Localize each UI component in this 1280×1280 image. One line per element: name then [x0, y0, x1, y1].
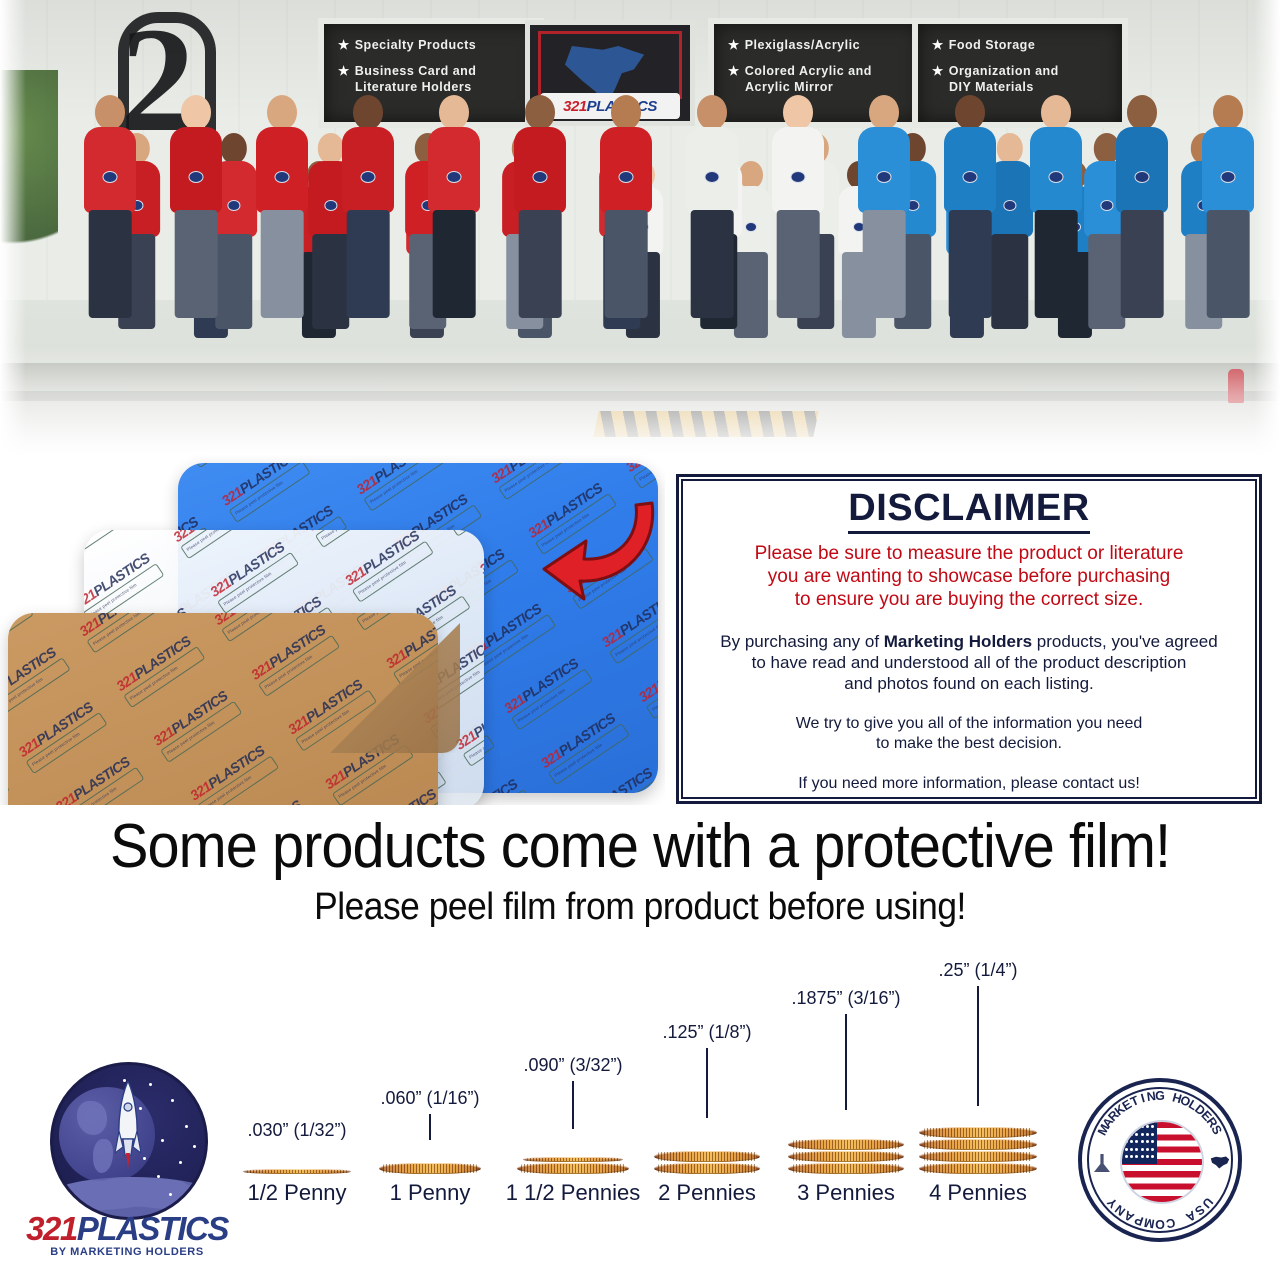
- watermark-note: Please peel protective film: [217, 552, 299, 614]
- shirt-logo-badge: [791, 171, 806, 183]
- watermark-note: Please peel protective film: [123, 646, 205, 708]
- star-icon: ★: [932, 38, 944, 52]
- star-dot: [179, 1161, 182, 1164]
- watermark-note: Please peel protective film: [8, 778, 10, 805]
- member-legs: [1121, 210, 1164, 318]
- disclaimer-title: DISCLAIMER: [679, 487, 1259, 530]
- thickness-label: .030” (1/32”): [247, 1120, 346, 1141]
- member-head: [221, 133, 247, 163]
- penny-stack: [788, 1138, 904, 1174]
- watermark-text: 321PLASTICS: [342, 530, 439, 588]
- member-legs: [1035, 210, 1078, 318]
- shirt-logo-badge: [361, 171, 376, 183]
- headline-block: Some products come with a protective fil…: [0, 812, 1280, 930]
- team-member: [1116, 95, 1168, 315]
- penny-coin: [788, 1151, 904, 1162]
- map-border: [538, 31, 682, 99]
- watermark-tile: 321PLASTICSPlease peel protective film: [359, 774, 438, 805]
- member-head: [997, 133, 1023, 163]
- disclaimer-contact: If you need more information, please con…: [679, 774, 1259, 794]
- watermark-tile: 321PLASTICSPlease peel protective film: [538, 698, 658, 793]
- watermark-tile: 321PLASTICSPlease peel protective film: [212, 613, 335, 665]
- watermark-tile: 321PLASTICSPlease peel protective film: [84, 530, 159, 594]
- watermark-text: 321PLASTICS: [501, 644, 598, 716]
- team-member: [256, 95, 308, 315]
- leader-line: [429, 1114, 431, 1140]
- member-shirt: [170, 127, 222, 213]
- disclaimer-box: DISCLAIMER Please be sure to measure the…: [676, 474, 1262, 804]
- leader-line: [845, 1014, 847, 1110]
- watermark-note: Please peel protective film: [633, 463, 658, 489]
- penny-stack: [919, 1126, 1037, 1174]
- penny-coin: [919, 1151, 1037, 1162]
- watermark-text: 321PLASTICS: [77, 613, 174, 639]
- member-legs: [691, 210, 734, 318]
- watermark-tile: 321PLASTICSPlease peel protective film: [8, 613, 65, 688]
- watermark-text: 321PLASTICS: [224, 785, 321, 805]
- watermark-note: Please peel protective film: [332, 744, 414, 805]
- watermark-text: 321PLASTICS: [489, 463, 586, 485]
- shirt-logo-badge: [963, 171, 978, 183]
- shirt-logo-badge: [1003, 200, 1016, 211]
- film-watermark: 321PLASTICSPlease peel protective film32…: [8, 613, 438, 805]
- watermark-note: Please peel protective film: [160, 701, 242, 763]
- watermark-tile: 321PLASTICSPlease peel protective film: [346, 613, 438, 654]
- star-icon: ★: [728, 64, 740, 78]
- watermark-note: Please peel protective film: [229, 463, 311, 523]
- watermark-text: 321PLASTICS: [8, 753, 15, 805]
- watermark-note: Please peel protective film: [86, 613, 168, 653]
- watermark-note: Please peel protective film: [474, 614, 556, 676]
- watermark-tile: 321PLASTICSPlease peel protective film: [8, 753, 41, 805]
- watermark-note: Please peel protective film: [221, 613, 303, 642]
- member-shirt: [944, 127, 996, 213]
- logo-circle: [50, 1062, 208, 1220]
- protective-film-illustration: 321PLASTICSPlease peel protective film32…: [0, 455, 665, 805]
- watermark-tile: 321PLASTICSPlease peel protective film: [171, 530, 294, 582]
- team-member: [686, 95, 738, 315]
- rocket-icon: [115, 1081, 141, 1173]
- watermark-note: Please peel protective film: [25, 712, 107, 774]
- member-shirt: [600, 127, 652, 213]
- star-icon: ★: [338, 64, 350, 78]
- member-legs: [261, 210, 304, 318]
- watermark-note: Please peel protective film: [315, 530, 397, 548]
- shirt-logo-badge: [189, 171, 204, 183]
- badge-char: O: [1155, 1217, 1165, 1231]
- watermark-text: 321PLASTICS: [305, 530, 402, 533]
- watermark-tile: 321PLASTICSPlease peel protective film: [188, 731, 311, 805]
- team-member: [1030, 95, 1082, 315]
- sign-line: ★Organization and: [932, 64, 1122, 79]
- team-member: [1202, 95, 1254, 315]
- member-legs: [519, 210, 562, 318]
- watermark-text: 321PLASTICS: [636, 632, 658, 704]
- member-shirt: [342, 127, 394, 213]
- watermark-text: 321PLASTICS: [188, 731, 285, 803]
- shirt-logo-badge: [1100, 200, 1113, 211]
- team-member: [944, 95, 996, 315]
- member-legs: [605, 210, 648, 318]
- logo-wordmark: 321PLASTICS: [22, 1212, 232, 1246]
- watermark-text: 321PLASTICS: [151, 676, 248, 748]
- sign-line: Literature Holders: [338, 80, 538, 95]
- star-dot: [193, 1145, 196, 1148]
- watermark-text: 321PLASTICS: [359, 774, 438, 805]
- shirt-logo-badge: [1049, 171, 1064, 183]
- team-member: [170, 95, 222, 315]
- watermark-note: Please peel protective film: [8, 657, 71, 719]
- member-shirt: [686, 127, 738, 213]
- badge-char: C: [1165, 1215, 1176, 1230]
- team-member: [858, 95, 910, 315]
- continent-shape: [93, 1139, 113, 1173]
- penny-count-label: 1 Penny: [390, 1180, 471, 1206]
- shirt-logo-badge: [877, 171, 892, 183]
- watermark-text: 321PLASTICS: [16, 687, 113, 759]
- watermark-text: 321PLASTICS: [219, 463, 316, 508]
- thickness-label: .25” (1/4”): [938, 960, 1017, 981]
- disclaimer-info: We try to give you all of the informatio…: [679, 714, 1259, 754]
- shirt-logo-badge: [533, 171, 548, 183]
- watermark-text: 321PLASTICS: [114, 621, 211, 693]
- watermark-text: 321PLASTICS: [354, 463, 451, 497]
- watermark-note: Please peel protective film: [352, 541, 434, 603]
- penny-count-label: 1/2 Penny: [247, 1180, 346, 1206]
- member-head: [525, 95, 555, 130]
- page-subtitle: Please peel film from product before usi…: [45, 884, 1235, 930]
- watermark-tile: 321PLASTICSPlease peel protective film: [16, 687, 139, 797]
- star-dot: [149, 1083, 152, 1086]
- member-legs: [863, 210, 906, 318]
- penny-stack: [517, 1156, 629, 1174]
- member-head: [353, 95, 383, 130]
- team-member: [772, 95, 824, 315]
- disclaimer-agreement-line1: By purchasing any of Marketing Holders p…: [679, 631, 1259, 652]
- watermark-note: Please peel protective film: [511, 668, 593, 730]
- star-dot: [183, 1083, 186, 1086]
- star-dot: [139, 1107, 142, 1110]
- watermark-text: 321PLASTICS: [248, 613, 345, 682]
- member-legs: [1207, 210, 1250, 318]
- member-shirt: [1116, 127, 1168, 213]
- shirt-logo-badge: [227, 200, 240, 211]
- penny-coin: [919, 1127, 1037, 1138]
- member-shirt: [1202, 127, 1254, 213]
- watermark-note: Please peel protective film: [363, 463, 445, 512]
- thickness-label: .125” (1/8”): [662, 1022, 751, 1043]
- watermark-note: Please peel protective film: [62, 767, 144, 805]
- member-legs: [175, 210, 218, 318]
- sign-line: ★Specialty Products: [338, 38, 538, 53]
- logo-tagline: BY MARKETING HOLDERS: [22, 1246, 232, 1258]
- photo-bottom-fade: [0, 345, 1280, 455]
- shirt-logo-badge: [705, 171, 720, 183]
- sign-line: Acrylic Mirror: [728, 80, 920, 95]
- watermark-tile: 321PLASTICSPlease peel protective film: [114, 621, 237, 731]
- sign-line: ★Business Card and: [338, 64, 538, 79]
- member-shirt: [858, 127, 910, 213]
- star-dot: [171, 1099, 174, 1102]
- watermark-tile: 321PLASTICSPlease peel protective film: [452, 463, 575, 469]
- leader-line: [977, 986, 979, 1106]
- shirt-logo-badge: [1221, 171, 1236, 183]
- shirt-logo-badge: [275, 171, 290, 183]
- star-icon: ★: [728, 38, 740, 52]
- photo-background: 2 ★Specialty Products ★Business Card and…: [0, 0, 1280, 455]
- watermark-text: 321PLASTICS: [90, 797, 187, 805]
- member-shirt: [772, 127, 824, 213]
- watermark-tile: 321PLASTICSPlease peel protective film: [342, 530, 465, 626]
- logo-marketing-holders: MARKETING HOLDERS USA COMPANY: [1078, 1078, 1242, 1242]
- watermark-tile: 321PLASTICSPlease peel protective film: [354, 463, 477, 535]
- shirt-logo-badge: [619, 171, 634, 183]
- penny-count-label: 3 Pennies: [797, 1180, 895, 1206]
- watermark-text: 321PLASTICS: [171, 530, 268, 544]
- watermark-text: 321PLASTICS: [208, 530, 305, 599]
- member-head: [869, 95, 899, 130]
- member-head: [739, 161, 763, 189]
- star-dot: [157, 1175, 160, 1178]
- penny-coin: [654, 1151, 760, 1162]
- team-photo: 2 ★Specialty Products ★Business Card and…: [0, 0, 1280, 455]
- watermark-tile: 321PLASTICSPlease peel protective film: [317, 463, 440, 480]
- member-shirt: [428, 127, 480, 213]
- watermark-tile: 321PLASTICSPlease peel protective film: [77, 613, 200, 677]
- penny-coin: [379, 1163, 481, 1174]
- watermark-tile: 321PLASTICSPlease peel protective film: [501, 644, 624, 754]
- penny-coin: [654, 1163, 760, 1174]
- leader-line: [706, 1048, 708, 1118]
- penny-coin: [517, 1163, 629, 1174]
- watermark-note: Please peel protective film: [8, 613, 34, 665]
- member-legs: [89, 210, 132, 318]
- star-dot: [143, 1157, 146, 1160]
- thickness-label: .060” (1/16”): [380, 1088, 479, 1109]
- kraft-masked-sheet: 321PLASTICSPlease peel protective film32…: [8, 613, 438, 805]
- photo-right-fade: [1254, 0, 1280, 455]
- watermark-tile: 321PLASTICSPlease peel protective film: [305, 530, 428, 571]
- penny-stack: [379, 1162, 481, 1174]
- shirt-logo-badge: [1135, 171, 1150, 183]
- watermark-text: 321PLASTICS: [178, 463, 182, 519]
- member-head: [1127, 95, 1157, 130]
- watermark-tile: 321PLASTICSPlease peel protective film: [636, 632, 658, 742]
- watermark-note: Please peel protective film: [462, 705, 484, 767]
- member-legs: [433, 210, 476, 318]
- watermark-tile: 321PLASTICSPlease peel protective film: [248, 613, 371, 720]
- badge-char: M: [1143, 1215, 1156, 1231]
- watermark-note: Please peel protective film: [369, 799, 438, 805]
- watermark-text: 321PLASTICS: [623, 463, 658, 474]
- watermark-text: 321PLASTICS: [8, 613, 39, 650]
- photo-left-fade: [0, 0, 26, 455]
- sign-line: ★Plexiglass/Acrylic: [728, 38, 920, 53]
- penny-coin: [919, 1139, 1037, 1150]
- team-member: [600, 95, 652, 315]
- member-head: [267, 95, 297, 130]
- leader-line: [572, 1081, 574, 1129]
- watermark-tile: 321PLASTICSPlease peel protective film: [151, 676, 274, 786]
- member-head: [181, 95, 211, 130]
- watermark-tile: 321PLASTICSPlease peel protective film: [40, 613, 163, 622]
- thickness-label: .1875” (3/16”): [791, 988, 900, 1009]
- penny-stack: [654, 1150, 760, 1174]
- member-head: [1213, 95, 1243, 130]
- team-member: [84, 95, 136, 315]
- watermark-text: 321PLASTICS: [53, 742, 150, 805]
- sign-line: ★Food Storage: [932, 38, 1122, 53]
- penny-count-label: 2 Pennies: [658, 1180, 756, 1206]
- thickness-label: .090” (3/32”): [523, 1055, 622, 1076]
- watermark-note: Please peel protective film: [180, 530, 262, 559]
- star-dot: [161, 1139, 164, 1142]
- penny-coin: [788, 1139, 904, 1150]
- member-legs: [949, 210, 992, 318]
- shirt-logo-badge: [745, 222, 757, 232]
- team-member: [342, 95, 394, 315]
- sign-line: ★Colored Acrylic and: [728, 64, 920, 79]
- watermark-text: 321PLASTICS: [8, 633, 76, 705]
- penny-count-label: 4 Pennies: [929, 1180, 1027, 1206]
- star-icon: ★: [338, 38, 350, 52]
- team-member: [428, 95, 480, 315]
- member-head: [611, 95, 641, 130]
- penny-coin: [243, 1169, 351, 1174]
- star-dot: [185, 1125, 188, 1128]
- team-member: [514, 95, 566, 315]
- member-shirt: [84, 127, 136, 213]
- member-head: [1041, 95, 1071, 130]
- watermark-note: Please peel protective film: [192, 463, 274, 468]
- member-shirt: [514, 127, 566, 213]
- star-dot: [123, 1079, 126, 1082]
- member-head: [318, 133, 344, 163]
- member-head: [439, 95, 469, 130]
- sign-line: DIY Materials: [932, 80, 1122, 95]
- member-head: [95, 95, 125, 130]
- member-shirt: [256, 127, 308, 213]
- logo-321plastics: 321PLASTICS BY MARKETING HOLDERS: [22, 1062, 232, 1247]
- member-legs: [991, 234, 1029, 329]
- member-legs: [777, 210, 820, 318]
- member-shirt: [1030, 127, 1082, 213]
- watermark-note: Please peel protective film: [585, 778, 658, 793]
- penny-count-label: 1 1/2 Pennies: [506, 1180, 641, 1206]
- continent-shape: [77, 1101, 107, 1135]
- watermark-note: Please peel protective film: [646, 657, 658, 719]
- penny-coin: [788, 1163, 904, 1174]
- star-icon: ★: [932, 64, 944, 78]
- member-head: [697, 95, 727, 130]
- watermark-tile: 321PLASTICSPlease peel protective film: [8, 633, 102, 743]
- member-legs: [347, 210, 390, 318]
- peel-arrow-icon: [540, 495, 660, 610]
- shirt-logo-badge: [447, 171, 462, 183]
- watermark-tile: 321PLASTICSPlease peel protective film: [182, 463, 305, 491]
- watermark-note: Please peel protective film: [548, 723, 630, 785]
- member-head: [783, 95, 813, 130]
- watermark-tile: 321PLASTICSPlease peel protective film: [90, 797, 213, 805]
- watermark-note: Please peel protective film: [197, 755, 279, 805]
- shirt-logo-badge: [324, 200, 337, 211]
- penny-coin: [919, 1163, 1037, 1174]
- watermark-text: 321PLASTICS: [575, 753, 658, 793]
- watermark-text: 321PLASTICS: [84, 538, 170, 610]
- star-dot: [169, 1193, 172, 1196]
- watermark-tile: 321PLASTICSPlease peel protective film: [224, 785, 347, 805]
- page-title: Some products come with a protective fil…: [45, 812, 1235, 882]
- shirt-logo-badge: [103, 171, 118, 183]
- watermark-tile: 321PLASTICSPlease peel protective film: [53, 742, 176, 805]
- penny-stack: [243, 1168, 351, 1174]
- disclaimer-warning: Please be sure to measure the product or…: [679, 542, 1259, 611]
- watermark-note: Please peel protective film: [258, 635, 340, 697]
- watermark-text: 321PLASTICS: [538, 698, 635, 770]
- penny-coin-half: [523, 1157, 624, 1162]
- watermark-note: Please peel protective film: [84, 530, 128, 571]
- watermark-text: 321PLASTICS: [84, 530, 133, 556]
- watermark-tile: 321PLASTICSPlease peel protective film: [575, 753, 658, 793]
- watermark-text: 321PLASTICS: [212, 613, 309, 627]
- watermark-note: Please peel protective film: [609, 602, 658, 664]
- disclaimer-agreement: By purchasing any of Marketing Holders p…: [679, 631, 1259, 694]
- member-head: [955, 95, 985, 130]
